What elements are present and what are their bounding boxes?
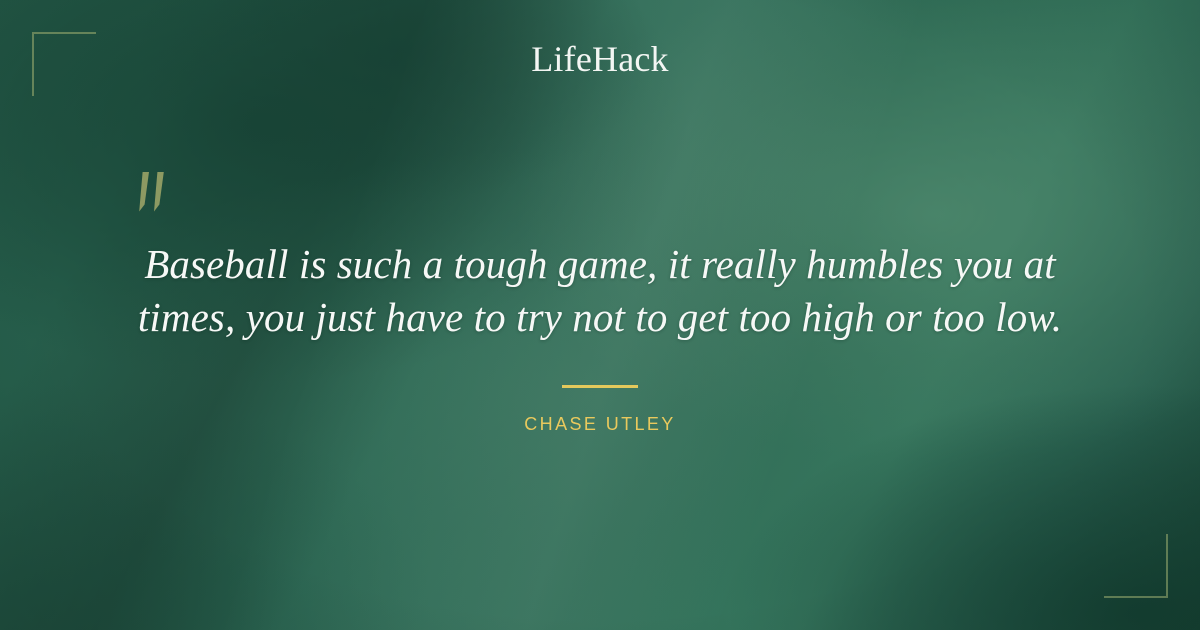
quote-card: LifeHack Baseball is such a tough game, … xyxy=(0,0,1200,630)
corner-bracket-bottom-right-icon xyxy=(1104,534,1168,598)
brand-logo: LifeHack xyxy=(0,41,1200,77)
attribution-name: CHASE UTLEY xyxy=(0,414,1200,435)
quote-text: Baseball is such a tough game, it really… xyxy=(100,238,1100,345)
attribution-divider xyxy=(562,385,638,388)
quote-block: Baseball is such a tough game, it really… xyxy=(100,238,1100,345)
closing-double-quote-icon xyxy=(132,170,176,218)
